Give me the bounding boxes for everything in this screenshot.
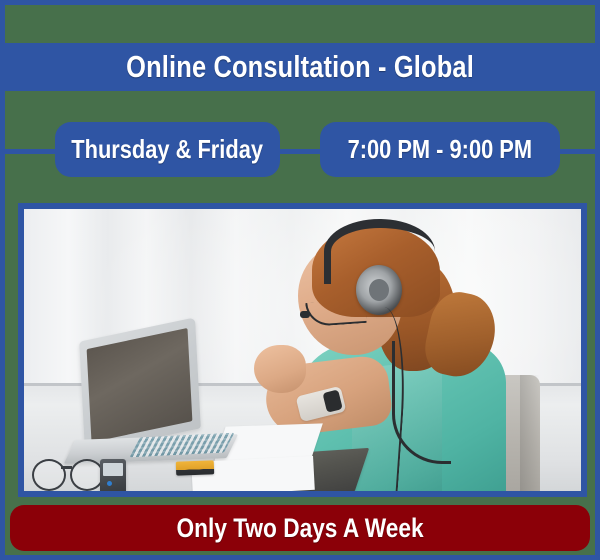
headset-earcup-inner bbox=[369, 279, 389, 301]
consultation-photo bbox=[24, 209, 581, 491]
handheld-device bbox=[100, 459, 126, 491]
laptop-screen bbox=[87, 328, 193, 442]
person-hand bbox=[254, 345, 306, 393]
eyeglasses-bridge bbox=[61, 466, 72, 469]
title-bar: Online Consultation - Global bbox=[0, 43, 600, 91]
headset-mic-tip-icon bbox=[300, 311, 310, 318]
schedule-badge-row: Thursday & Friday 7:00 PM - 9:00 PM bbox=[0, 122, 600, 182]
yellow-card-object bbox=[176, 460, 214, 475]
badge-hours-label: 7:00 PM - 9:00 PM bbox=[348, 134, 532, 165]
badge-days[interactable]: Thursday & Friday bbox=[55, 122, 280, 177]
eyeglasses-left-lens bbox=[32, 459, 66, 491]
chair-shadow bbox=[520, 375, 540, 491]
handheld-device-screen bbox=[103, 463, 123, 476]
promo-poster: Online Consultation - Global Thursday & … bbox=[0, 0, 600, 560]
eyeglasses-right-lens bbox=[70, 459, 104, 491]
photo-frame bbox=[18, 203, 587, 497]
page-title: Online Consultation - Global bbox=[126, 49, 474, 85]
smartwatch-face bbox=[322, 389, 342, 412]
handheld-device-indicator bbox=[107, 481, 112, 486]
badge-hours[interactable]: 7:00 PM - 9:00 PM bbox=[320, 122, 560, 177]
footer-banner-label: Only Two Days A Week bbox=[176, 513, 423, 544]
footer-banner: Only Two Days A Week bbox=[10, 505, 590, 551]
badge-days-label: Thursday & Friday bbox=[72, 134, 264, 165]
